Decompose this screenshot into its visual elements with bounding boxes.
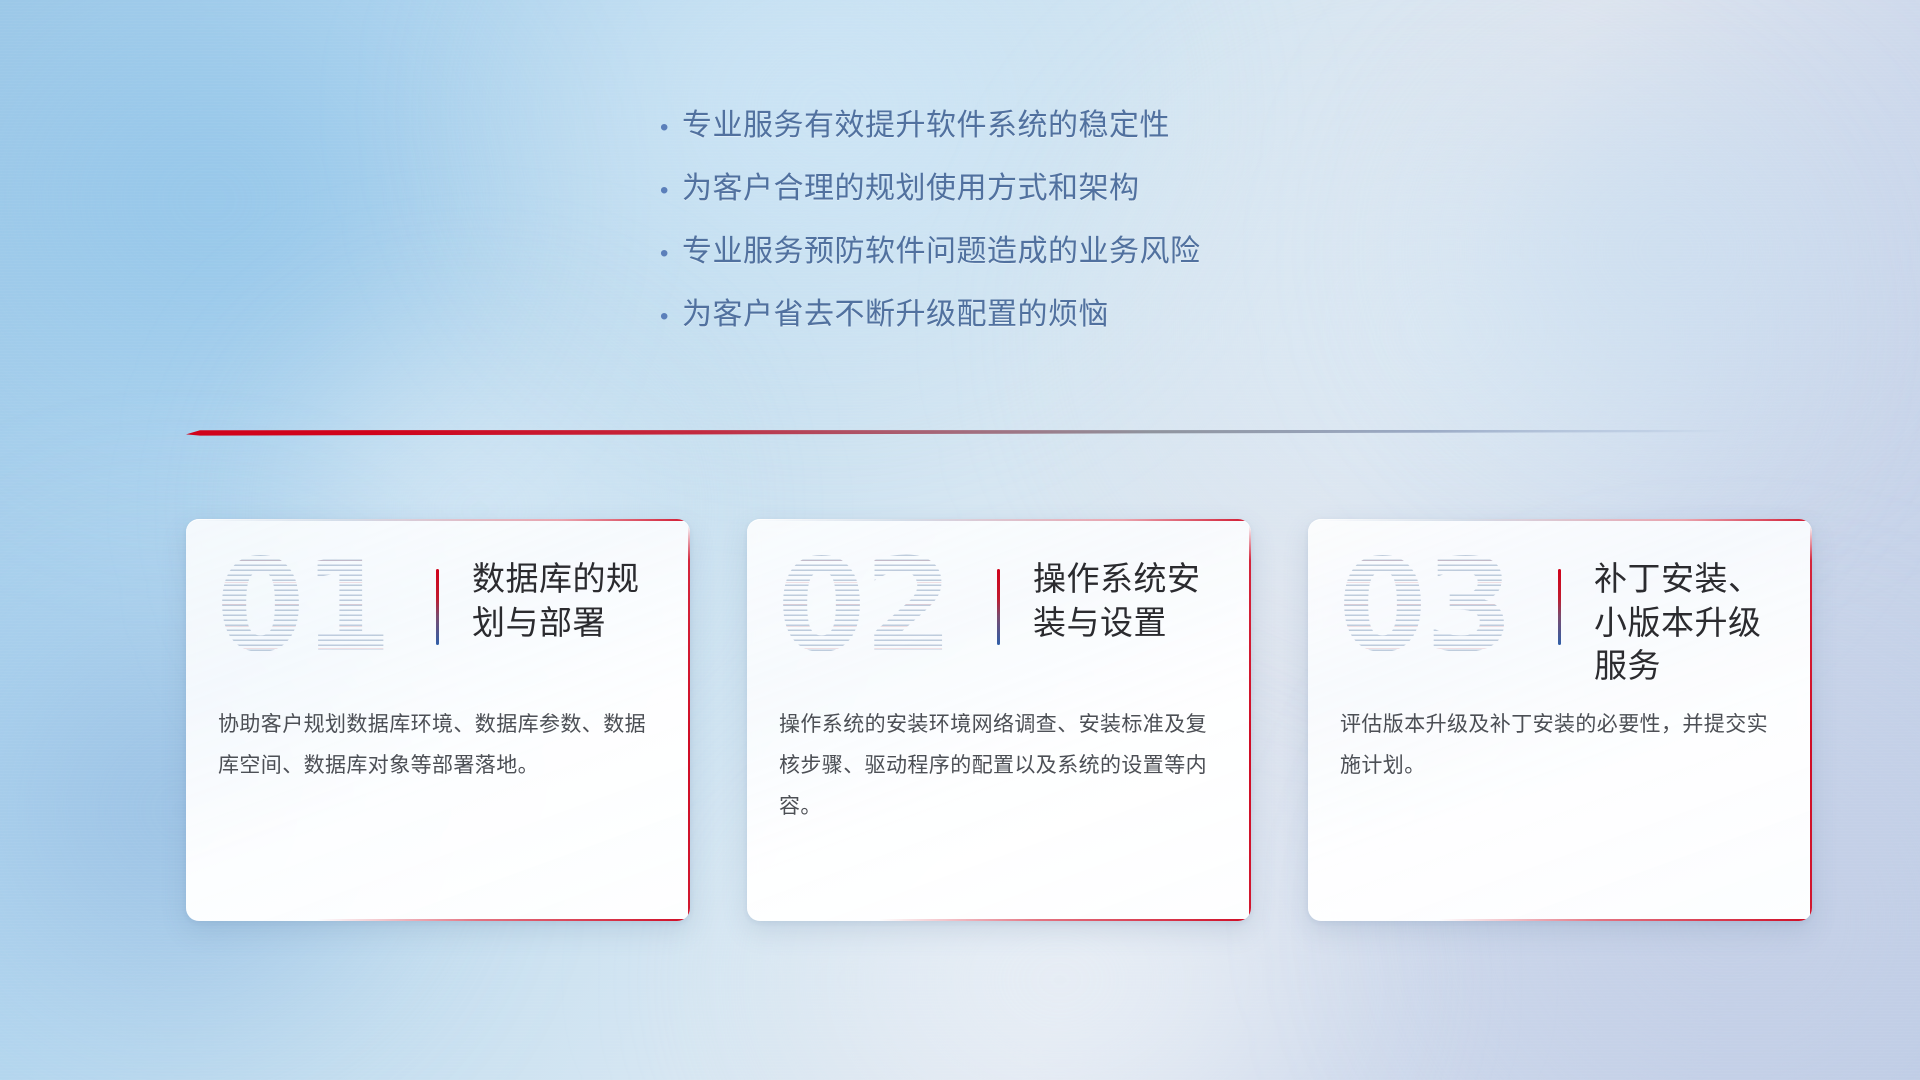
title-accent-bar <box>436 569 439 645</box>
card-bottom-accent <box>186 919 690 922</box>
service-card-grid: 01 数据库的规划与部署 协助客户规划数据库环境、数据库参数、数据库空间、数据库… <box>186 519 1812 921</box>
bullet-dot-icon: • <box>660 116 682 140</box>
bullet-dot-icon: • <box>660 305 682 329</box>
bullet-dot-icon: • <box>660 242 682 266</box>
card-header: 03 补丁安装、小版本升级服务 <box>1308 519 1812 695</box>
title-accent-bar <box>997 569 1000 645</box>
bullet-text-4: 为客户省去不断升级配置的烦恼 <box>682 297 1109 333</box>
list-item: • 为客户省去不断升级配置的烦恼 <box>660 297 1201 333</box>
bullet-dot-icon: • <box>660 179 682 203</box>
card-title: 数据库的规划与部署 <box>472 557 672 644</box>
service-card-02[interactable]: 02 操作系统安装与设置 操作系统的安装环境网络调查、安装标准及复核步骤、驱动程… <box>747 519 1251 921</box>
benefits-bullet-list: • 专业服务有效提升软件系统的稳定性 • 为客户合理的规划使用方式和架构 • 专… <box>660 108 1201 360</box>
list-item: • 为客户合理的规划使用方式和架构 <box>660 171 1201 207</box>
title-accent-bar <box>1558 569 1561 645</box>
service-card-01[interactable]: 01 数据库的规划与部署 协助客户规划数据库环境、数据库参数、数据库空间、数据库… <box>186 519 690 921</box>
list-item: • 专业服务有效提升软件系统的稳定性 <box>660 108 1201 144</box>
card-body-text: 协助客户规划数据库环境、数据库参数、数据库空间、数据库对象等部署落地。 <box>218 705 662 787</box>
card-header: 01 数据库的规划与部署 <box>186 519 690 695</box>
card-title: 补丁安装、小版本升级服务 <box>1594 557 1794 688</box>
card-number-watermark: 01 <box>216 543 390 671</box>
card-body-text: 评估版本升级及补丁安装的必要性，并提交实施计划。 <box>1340 705 1784 787</box>
card-number-watermark: 03 <box>1338 543 1512 671</box>
bullet-text-1: 专业服务有效提升软件系统的稳定性 <box>682 108 1170 144</box>
card-body-text: 操作系统的安装环境网络调查、安装标准及复核步骤、驱动程序的配置以及系统的设置等内… <box>779 705 1223 828</box>
section-divider <box>186 426 1741 440</box>
card-header: 02 操作系统安装与设置 <box>747 519 1251 695</box>
service-card-03[interactable]: 03 补丁安装、小版本升级服务 评估版本升级及补丁安装的必要性，并提交实施计划。 <box>1308 519 1812 921</box>
bullet-text-3: 专业服务预防软件问题造成的业务风险 <box>682 234 1201 270</box>
card-bottom-accent <box>1308 919 1812 922</box>
bullet-text-2: 为客户合理的规划使用方式和架构 <box>682 171 1140 207</box>
card-title: 操作系统安装与设置 <box>1033 557 1233 644</box>
list-item: • 专业服务预防软件问题造成的业务风险 <box>660 234 1201 270</box>
card-bottom-accent <box>747 919 1251 922</box>
card-number-watermark: 02 <box>777 543 951 671</box>
